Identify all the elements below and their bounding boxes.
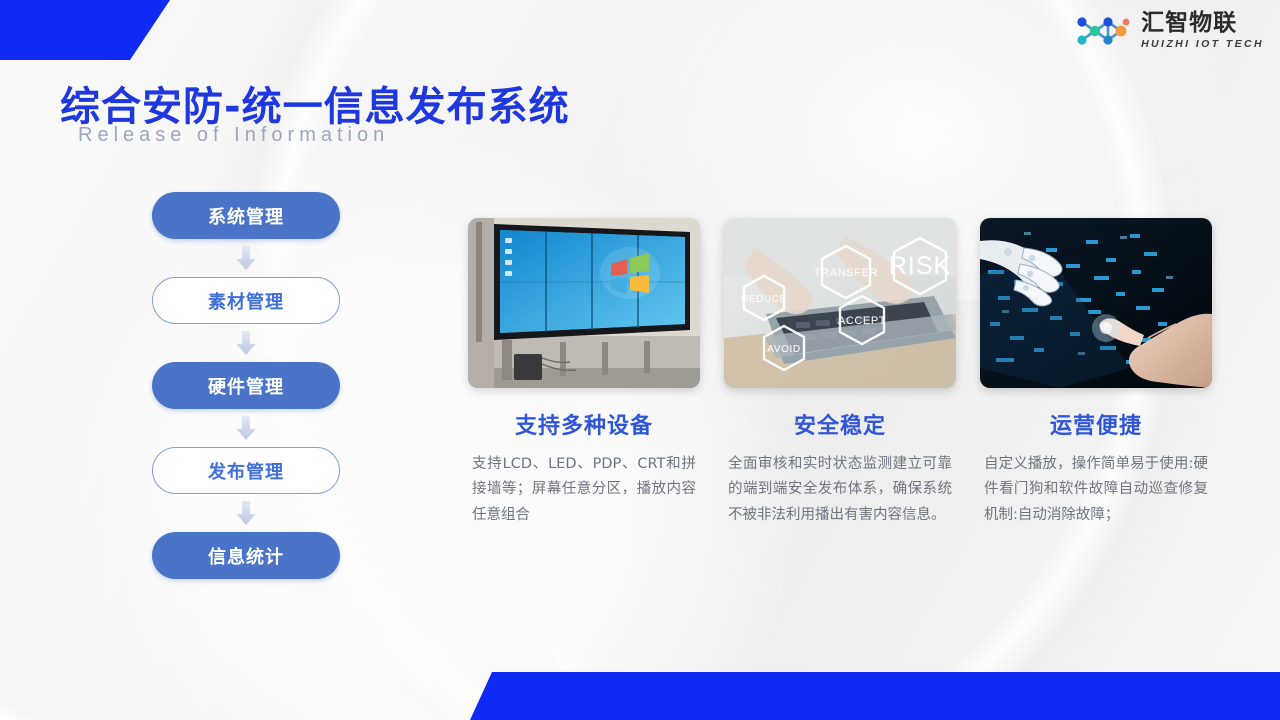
top-left-blue-shape	[0, 0, 170, 60]
arrow-down-icon	[152, 494, 340, 532]
feature-card-list: 支持多种设备 支持LCD、LED、PDP、CRT和拼接墙等；屏幕任意分区，播放内…	[468, 218, 1212, 528]
svg-text:AVOID: AVOID	[767, 344, 800, 355]
arrow-down-icon	[152, 409, 340, 447]
brand-name-en: HUIZHI IOT TECH	[1141, 39, 1264, 50]
slide-canvas: 汇智物联 HUIZHI IOT TECH 综合安防-统一信息发布系统 Relea…	[0, 0, 1280, 720]
flow-step-material-management[interactable]: 素材管理	[152, 277, 340, 324]
card-body: 全面审核和实时状态监测建立可靠的端到端安全发布体系，确保系统不被非法利用播出有害…	[724, 452, 956, 528]
molecule-network-icon	[1074, 10, 1132, 52]
card-body: 支持LCD、LED、PDP、CRT和拼接墙等；屏幕任意分区，播放内容任意组合	[468, 452, 700, 528]
process-flow: 系统管理 素材管理 硬件管理 发布管理	[152, 192, 342, 579]
feature-card: 支持多种设备 支持LCD、LED、PDP、CRT和拼接墙等；屏幕任意分区，播放内…	[468, 218, 700, 528]
card-title: 安全稳定	[724, 408, 956, 440]
card-title: 运营便捷	[980, 408, 1212, 440]
flow-step-system-management[interactable]: 系统管理	[152, 192, 340, 239]
flow-step-hardware-management[interactable]: 硬件管理	[152, 362, 340, 409]
flow-step-label: 素材管理	[208, 288, 284, 314]
arrow-down-icon	[152, 239, 340, 277]
feature-card: RISK TRANSFER REDUCE ACCEPT AVOID 安全稳定 全…	[724, 218, 956, 528]
arrow-down-icon	[152, 324, 340, 362]
svg-text:REDUCE: REDUCE	[741, 294, 787, 305]
flow-step-publish-management[interactable]: 发布管理	[152, 447, 340, 494]
card-title: 支持多种设备	[468, 408, 700, 440]
brand-logo: 汇智物联 HUIZHI IOT TECH	[1074, 10, 1264, 52]
flow-step-label: 硬件管理	[208, 373, 284, 399]
video-wall-photo	[468, 218, 700, 388]
page-subtitle: Release of Information	[78, 124, 389, 147]
brand-name-cn: 汇智物联	[1141, 12, 1264, 35]
robot-human-hand-photo	[980, 218, 1212, 388]
flow-step-label: 信息统计	[208, 543, 284, 569]
card-body: 自定义播放，操作简单易于使用:硬件看门狗和软件故障自动巡查修复机制:自动消除故障…	[980, 452, 1212, 528]
svg-text:TRANSFER: TRANSFER	[814, 267, 878, 279]
flow-step-label: 发布管理	[208, 458, 284, 484]
risk-management-photo: RISK TRANSFER REDUCE ACCEPT AVOID	[724, 218, 956, 388]
bottom-right-blue-bar	[470, 672, 1280, 720]
svg-text:ACCEPT: ACCEPT	[838, 315, 886, 327]
flow-step-information-statistics[interactable]: 信息统计	[152, 532, 340, 579]
flow-step-label: 系统管理	[208, 203, 284, 229]
feature-card: 运营便捷 自定义播放，操作简单易于使用:硬件看门狗和软件故障自动巡查修复机制:自…	[980, 218, 1212, 528]
svg-text:RISK: RISK	[889, 252, 951, 280]
